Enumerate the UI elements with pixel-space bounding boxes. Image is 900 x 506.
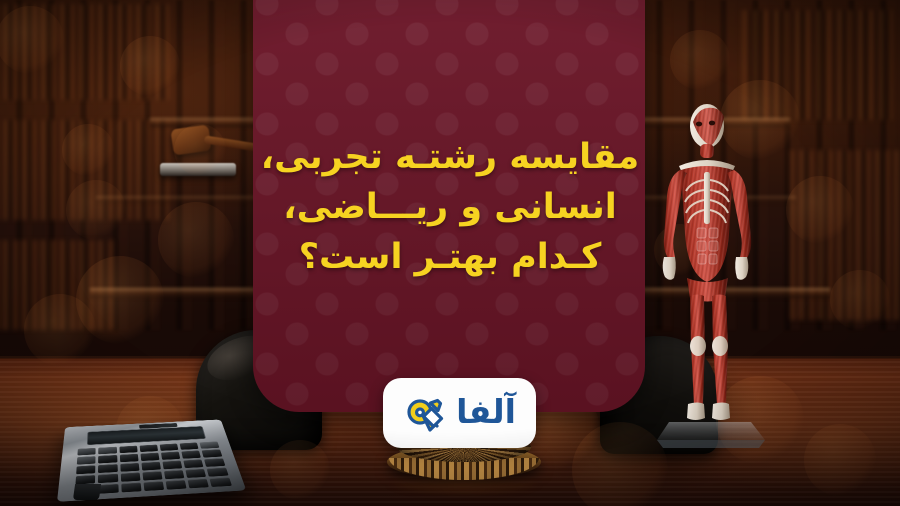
brand-logo[interactable]: آلفا — [383, 378, 536, 448]
calculator-stand — [73, 484, 101, 500]
banner-stage: مقایسه رشتـه تجربی، انسانی و ریـــاضی، ک… — [0, 0, 900, 506]
pencil-q-icon — [403, 390, 449, 436]
bookshelf-icon — [0, 4, 169, 100]
headline-line-3: کـدام بهتـر است؟ — [0, 232, 900, 282]
headline-line-2: انسانی و ریـــاضی، — [0, 182, 900, 232]
headline-line-1: مقایسه رشتـه تجربی، — [0, 132, 900, 182]
calculator — [58, 368, 248, 496]
page-title: مقایسه رشتـه تجربی، انسانی و ریـــاضی، ک… — [0, 132, 900, 282]
brand-name: آلفا — [456, 395, 516, 431]
